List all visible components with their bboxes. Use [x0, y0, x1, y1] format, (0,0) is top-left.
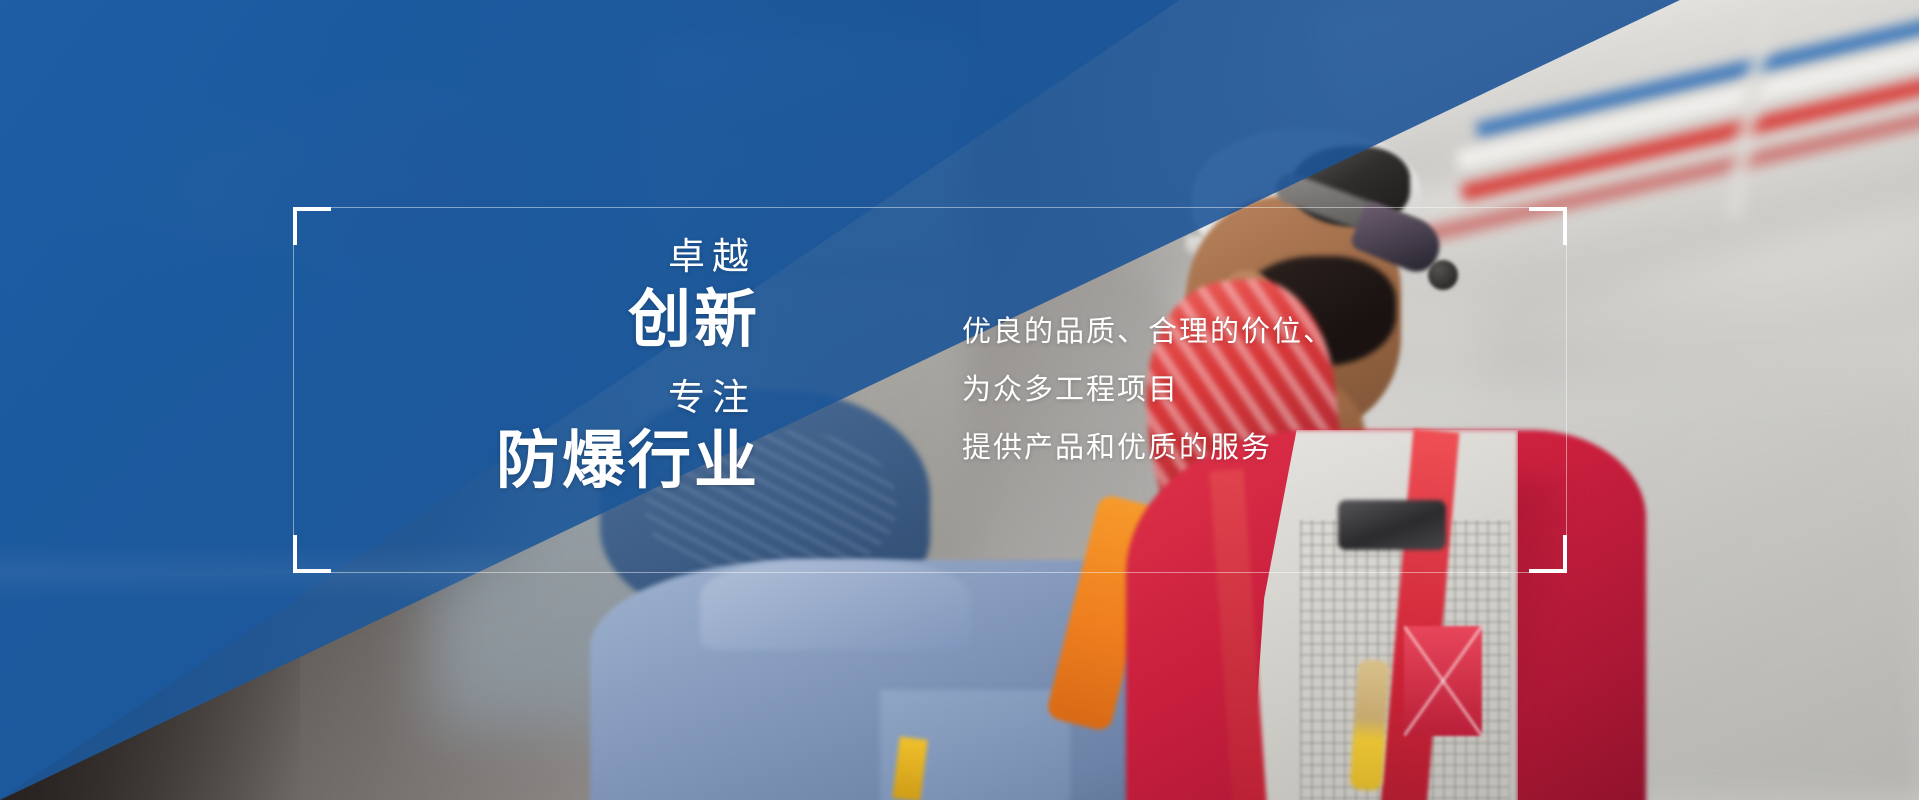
- body-copy-line: 为众多工程项目: [962, 376, 1334, 405]
- headline-block: 卓越 创新 专注 防爆行业: [360, 238, 760, 494]
- body-copy-line: 优良的品质、合理的价位、: [962, 318, 1334, 347]
- headline-primary-2: 防爆行业: [360, 428, 760, 494]
- photo-worker1-harness-stitch: [1404, 626, 1482, 736]
- headline-eyebrow-1: 卓越: [360, 238, 760, 275]
- hero-banner: 卓越 创新 专注 防爆行业 优良的品质、合理的价位、 为众多工程项目 提供产品和…: [0, 0, 1919, 800]
- headline-eyebrow-2: 专注: [360, 379, 760, 416]
- body-copy-block: 优良的品质、合理的价位、 为众多工程项目 提供产品和优质的服务: [962, 318, 1334, 463]
- body-copy-line: 提供产品和优质的服务: [962, 434, 1334, 463]
- photo-worker2-collar: [700, 560, 970, 650]
- headline-primary-1: 创新: [360, 287, 760, 353]
